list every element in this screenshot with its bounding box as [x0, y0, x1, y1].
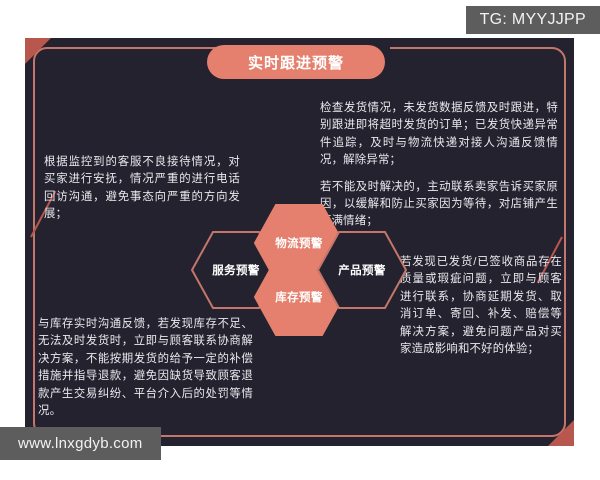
infographic-canvas: 实时跟进预警 根据监控到的客服不良接待情况，对买家进行安抚，情况严重的进行电话回… [0, 0, 600, 480]
site-watermark-text: www.lnxgdyb.com [18, 435, 143, 452]
page-title: 实时跟进预警 [248, 52, 344, 73]
hexagon-label-inventory: 库存预警 [275, 289, 323, 305]
product-paragraph-1: 若发现已发货/已签收商品存在质量或瑕疵问题，立即与顾客进行联系，协商延期发货、取… [400, 254, 562, 358]
corner-accent-top-left [25, 38, 51, 64]
title-badge: 实时跟进预警 [207, 45, 385, 79]
hexagon-label-product: 产品预警 [338, 262, 386, 278]
telegram-watermark-text: TG: MYYJJPP [480, 11, 586, 29]
corner-accent-bottom-right [548, 420, 574, 446]
hexagon-cluster: 服务预警 物流预警 库存预警 产品预警 [190, 203, 400, 338]
logistics-paragraph-1: 检查发货情况，未发货数据反馈及时跟进，特别跟进即将超时发货的订单；已发货快递异常… [320, 100, 558, 170]
hexagon-label-logistics: 物流预警 [275, 235, 323, 251]
telegram-watermark: TG: MYYJJPP [466, 6, 600, 34]
product-warning-text: 若发现已发货/已签收商品存在质量或瑕疵问题，立即与顾客进行联系，协商延期发货、取… [400, 254, 562, 358]
site-watermark: www.lnxgdyb.com [0, 427, 161, 460]
hexagon-label-service: 服务预警 [212, 262, 260, 278]
hexagon-product-warning[interactable]: 产品预警 [316, 230, 408, 310]
